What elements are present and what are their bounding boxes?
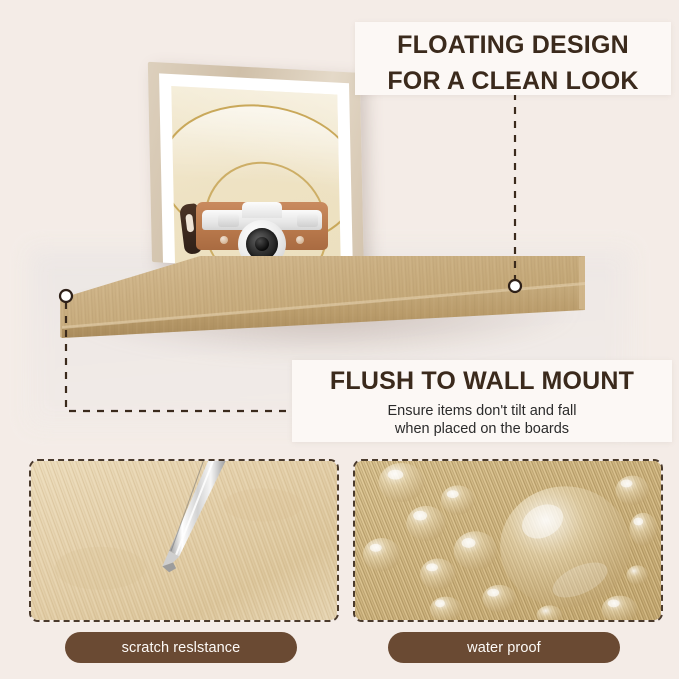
callout-subtitle-line2: when placed on the boards bbox=[292, 420, 672, 439]
camera-dial-left bbox=[218, 214, 239, 227]
feature-label-scratch-resistance: scratch reslstance bbox=[65, 632, 297, 663]
callout-box-floating-design: FLOATING DESIGN FOR A CLEAN LOOK bbox=[355, 22, 671, 95]
camera-strap-hole bbox=[185, 214, 194, 233]
callout-box-flush-to-wall: FLUSH TO WALL MOUNT Ensure items don't t… bbox=[292, 360, 672, 442]
floating-shelf bbox=[60, 240, 585, 340]
camera-dial-right bbox=[297, 214, 318, 227]
callout-headline-line1: FLOATING DESIGN bbox=[355, 25, 671, 61]
feature-panel-scratch-resistance bbox=[29, 459, 339, 622]
infographic-canvas: FLOATING DESIGN FOR A CLEAN LOOK FLUSH T… bbox=[0, 0, 679, 679]
feature-label-water-proof: water proof bbox=[388, 632, 620, 663]
callout-subtitle-line1: Ensure items don't tilt and fall bbox=[292, 397, 672, 421]
callout-headline-flush: FLUSH TO WALL MOUNT bbox=[292, 360, 672, 397]
feature-panel-water-proof bbox=[353, 459, 663, 622]
scratch-test-wood-swatch bbox=[29, 459, 339, 622]
camera-viewfinder-prism bbox=[242, 202, 282, 218]
waterproof-test-wood-swatch bbox=[353, 459, 663, 622]
callout-headline-line2: FOR A CLEAN LOOK bbox=[355, 61, 671, 97]
product-hero-scene: FLOATING DESIGN FOR A CLEAN LOOK FLUSH T… bbox=[0, 0, 679, 450]
